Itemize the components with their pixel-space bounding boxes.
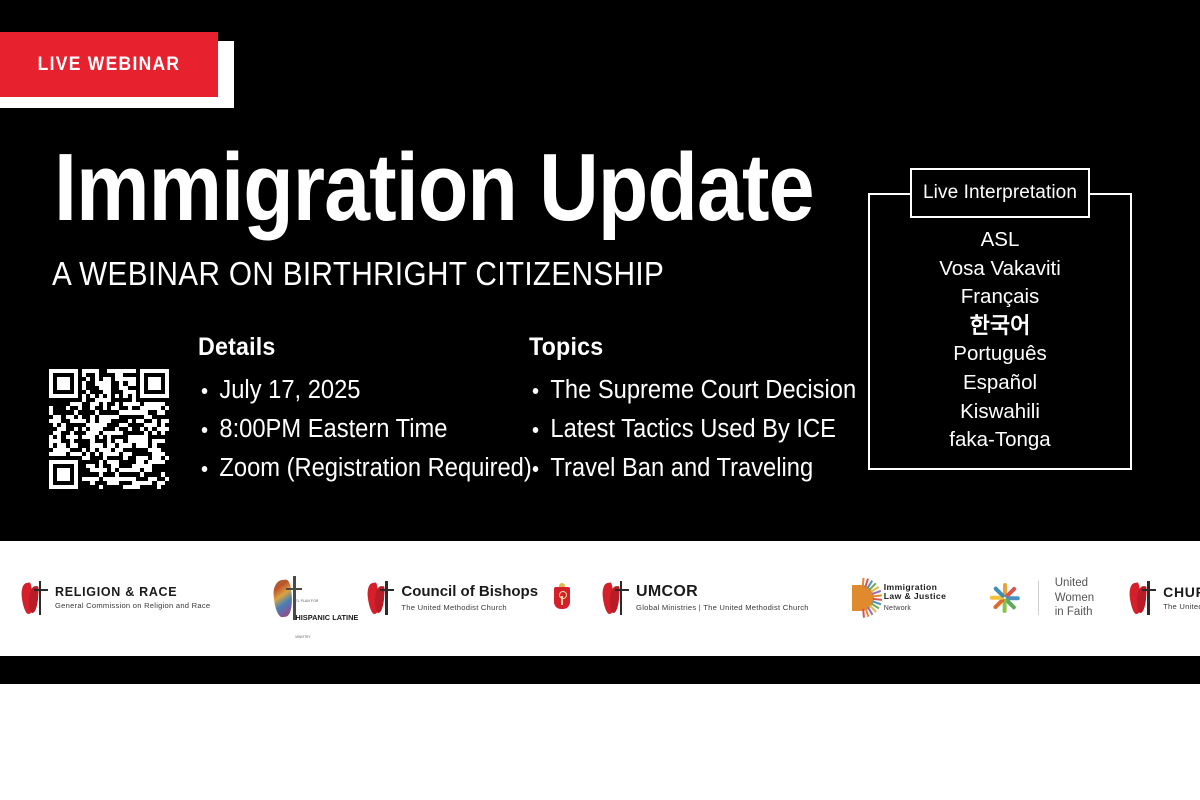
topics-heading: Topics <box>529 333 836 362</box>
live-interpretation-label: Live Interpretation <box>910 168 1090 218</box>
details-column: Details July 17, 2025 8:00PM Eastern Tim… <box>198 333 518 488</box>
list-item: 8:00PM Eastern Time <box>198 410 496 449</box>
logo-name: UnitedWomenin Faith <box>1055 576 1094 620</box>
logo-subtitle: Network <box>884 604 948 613</box>
pinwheel-icon <box>988 581 1022 615</box>
logo-hispanic-latine: EL PLAN FOR HISPANIC LATINE MINISTRY <box>272 576 310 620</box>
logo-united-women-in-faith: UnitedWomenin Faith <box>988 576 1094 620</box>
logo-subtitle: General Commission on Religion and Race <box>55 601 210 611</box>
language-item: Français <box>868 283 1132 312</box>
logo-umcor: UMCOR Global Ministries | The United Met… <box>603 580 809 616</box>
logo-subtitle: Global Ministries | The United Methodist… <box>636 603 809 613</box>
logo-immigration-law-justice-network: Immigration Law & Justice Network <box>843 581 948 615</box>
lower-black-strip <box>0 656 1200 684</box>
logo-name: UMCOR <box>636 583 809 601</box>
webinar-poster: LIVE WEBINAR Immigration Update A WEBINA… <box>0 0 1200 800</box>
logo-church-and-society: CHURCH & SOCIETY The United Methodist Ch… <box>1130 580 1200 616</box>
live-webinar-label: LIVE WEBINAR <box>9 32 210 97</box>
logo-name: RELIGION & RACE <box>55 585 210 599</box>
interpretation-language-list: ASL Vosa Vakaviti Français 한국어 Português… <box>868 226 1132 455</box>
cross-and-flame-icon <box>368 580 394 616</box>
divider <box>1038 581 1039 615</box>
language-item: faka-Tonga <box>868 426 1132 455</box>
logo-subtitle: The United Methodist Church <box>1163 602 1200 612</box>
logo-subtitle: The United Methodist Church <box>401 603 538 613</box>
logo-name: Council of Bishops <box>401 583 538 600</box>
language-item: Kiswahili <box>868 398 1132 427</box>
page-subtitle: A WEBINAR ON BIRTHRIGHT CITIZENSHIP <box>52 257 664 290</box>
logo-eyebrow: EL PLAN FOR <box>295 599 318 603</box>
logo-subtitle: MINISTRY <box>295 635 310 639</box>
live-webinar-badge: LIVE WEBINAR <box>0 32 234 108</box>
sunburst-icon <box>843 581 877 615</box>
hispanic-latine-icon: EL PLAN FOR HISPANIC LATINE MINISTRY <box>272 576 310 620</box>
bishops-crest-icon <box>553 583 571 613</box>
sponsor-logo-band: RELIGION & RACE General Commission on Re… <box>0 541 1200 655</box>
cross-and-flame-icon <box>22 580 48 616</box>
list-item: The Supreme Court Decision <box>529 371 836 410</box>
logo-council-of-bishops: Council of Bishops The United Methodist … <box>368 580 571 616</box>
list-item: July 17, 2025 <box>198 371 496 410</box>
logo-name: Immigration Law & Justice <box>884 583 948 603</box>
language-item: Español <box>868 369 1132 398</box>
page-bottom-whitespace <box>0 684 1200 800</box>
hero-panel: LIVE WEBINAR Immigration Update A WEBINA… <box>0 0 1200 541</box>
list-item: Zoom (Registration Required) <box>198 449 496 488</box>
list-item: Travel Ban and Traveling <box>529 449 836 488</box>
language-item: Português <box>868 340 1132 369</box>
language-item: ASL <box>868 226 1132 255</box>
cross-and-flame-icon <box>603 580 629 616</box>
topics-list: The Supreme Court Decision Latest Tactic… <box>529 371 859 488</box>
logo-name: CHURCH & SOCIETY <box>1163 584 1200 600</box>
list-item: Latest Tactics Used By ICE <box>529 410 836 449</box>
language-item: Vosa Vakaviti <box>868 255 1132 284</box>
cross-and-flame-icon <box>1130 580 1156 616</box>
page-title: Immigration Update <box>54 140 814 236</box>
logo-name: HISPANIC LATINE <box>295 613 358 622</box>
logo-religion-and-race: RELIGION & RACE General Commission on Re… <box>22 580 210 616</box>
details-heading: Details <box>198 333 496 362</box>
topics-column: Topics The Supreme Court Decision Latest… <box>529 333 859 488</box>
registration-qr-code[interactable] <box>46 366 172 492</box>
details-list: July 17, 2025 8:00PM Eastern Time Zoom (… <box>198 371 518 488</box>
language-item: 한국어 <box>868 312 1132 341</box>
